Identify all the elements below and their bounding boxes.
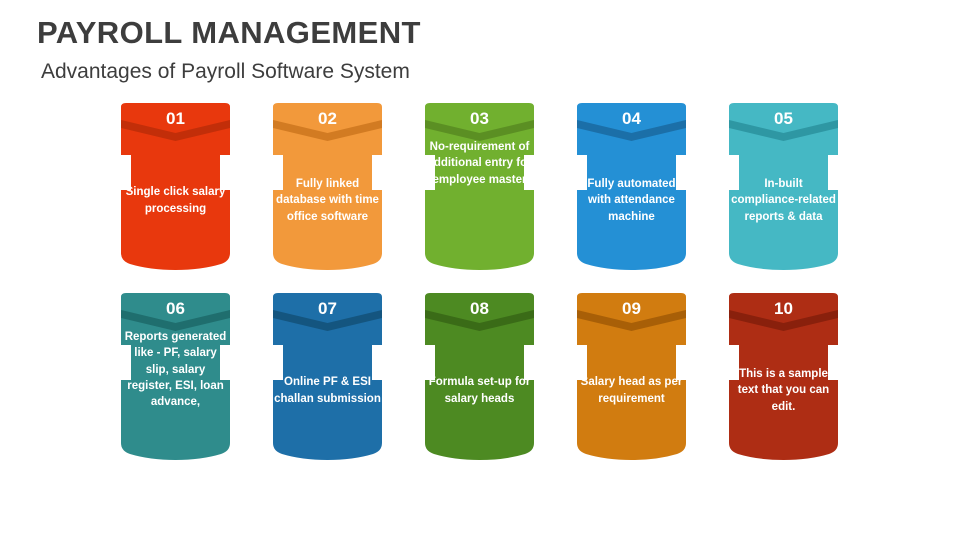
card-body: Salary head as per requirement <box>578 335 685 446</box>
card-text: Fully linked database with time office s… <box>274 176 381 225</box>
advantage-card-03[interactable]: 03 No-requirement of additional entry fo… <box>417 103 542 270</box>
card-body: Online PF & ESI challan submission <box>274 335 381 446</box>
slide-header: PAYROLL MANAGEMENT Advantages of Payroll… <box>37 16 917 84</box>
card-body: Single click salary processing <box>122 145 229 256</box>
advantage-card-06[interactable]: 06 Reports generated like - PF, salary s… <box>113 293 238 460</box>
advantage-card-01[interactable]: 01 Single click salary processing <box>113 103 238 270</box>
page-subtitle: Advantages of Payroll Software System <box>41 60 917 84</box>
card-text: No-requirement of additional entry for e… <box>426 139 533 188</box>
card-body: Fully automated with attendance machine <box>578 145 685 256</box>
card-body: Reports generated like - PF, salary slip… <box>122 329 229 446</box>
card-text: This is a sample text that you can edit. <box>730 366 837 415</box>
card-body: Formula set-up for salary heads <box>426 335 533 446</box>
slide-canvas: PAYROLL MANAGEMENT Advantages of Payroll… <box>0 0 960 540</box>
card-row-1: 01 Single click salary processing 02 Ful… <box>113 103 847 270</box>
advantage-card-05[interactable]: 05 In-built compliance-related reports &… <box>721 103 846 270</box>
advantage-card-02[interactable]: 02 Fully linked database with time offic… <box>265 103 390 270</box>
card-body: In-built compliance-related reports & da… <box>730 145 837 256</box>
card-text: Fully automated with attendance machine <box>578 176 685 225</box>
page-title: PAYROLL MANAGEMENT <box>37 16 917 51</box>
card-text: Online PF & ESI challan submission <box>274 374 381 407</box>
advantage-card-09[interactable]: 09 Salary head as per requirement <box>569 293 694 460</box>
card-text: Reports generated like - PF, salary slip… <box>122 329 229 411</box>
card-body: No-requirement of additional entry for e… <box>426 139 533 256</box>
advantage-card-04[interactable]: 04 Fully automated with attendance machi… <box>569 103 694 270</box>
card-text: Salary head as per requirement <box>578 374 685 407</box>
card-text: Formula set-up for salary heads <box>426 374 533 407</box>
card-row-2: 06 Reports generated like - PF, salary s… <box>113 293 847 460</box>
advantages-card-grid: 01 Single click salary processing 02 Ful… <box>113 103 847 460</box>
card-text: Single click salary processing <box>122 184 229 217</box>
advantage-card-10[interactable]: 10 This is a sample text that you can ed… <box>721 293 846 460</box>
advantage-card-08[interactable]: 08 Formula set-up for salary heads <box>417 293 542 460</box>
advantage-card-07[interactable]: 07 Online PF & ESI challan submission <box>265 293 390 460</box>
card-body: Fully linked database with time office s… <box>274 145 381 256</box>
card-text: In-built compliance-related reports & da… <box>730 176 837 225</box>
card-body: This is a sample text that you can edit. <box>730 335 837 446</box>
